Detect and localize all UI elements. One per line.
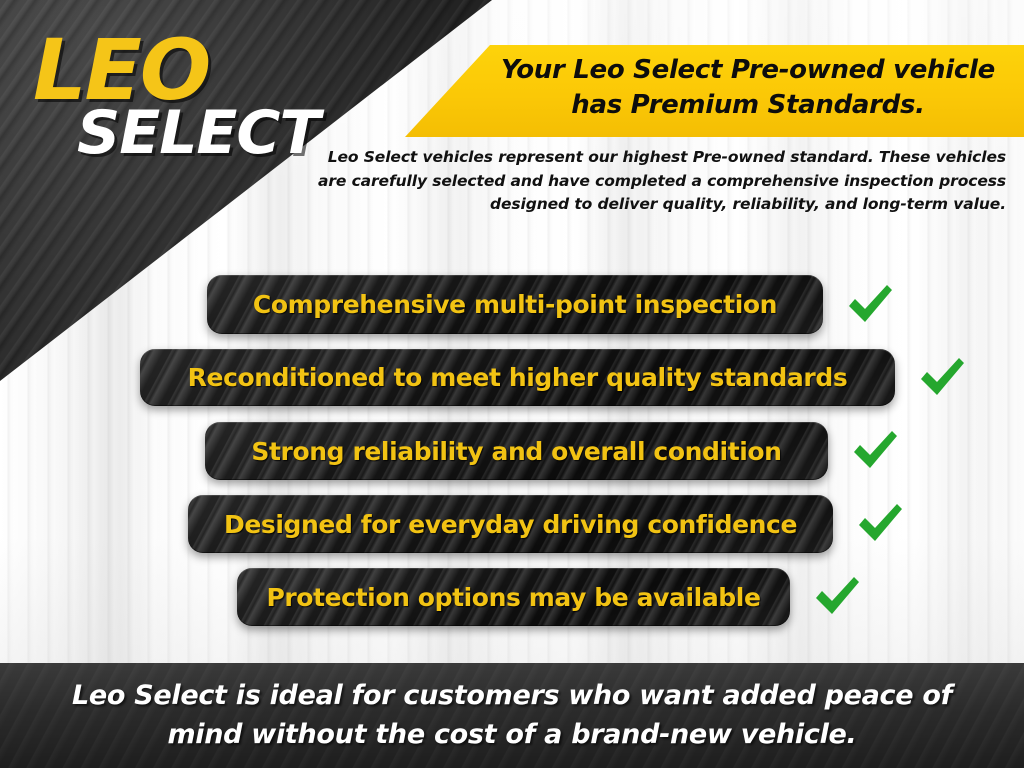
feature-pill: Designed for everyday driving confidence <box>188 495 833 553</box>
feature-pill: Comprehensive multi-point inspection <box>207 275 823 334</box>
footer-text: Leo Select is ideal for customers who wa… <box>62 677 962 754</box>
feature-label: Designed for everyday driving confidence <box>224 510 797 539</box>
feature-pill: Reconditioned to meet higher quality sta… <box>140 349 895 406</box>
feature-pill: Strong reliability and overall condition <box>205 422 828 480</box>
feature-label: Strong reliability and overall condition <box>251 437 781 466</box>
feature-row: Comprehensive multi-point inspection <box>207 275 897 334</box>
check-icon <box>812 574 862 620</box>
footer-bar: Leo Select is ideal for customers who wa… <box>0 663 1024 768</box>
feature-pill: Protection options may be available <box>237 568 790 626</box>
brand-logo: LEO SELECT <box>33 36 333 158</box>
logo-text-leo: LEO <box>33 36 333 105</box>
feature-row: Protection options may be available <box>237 568 862 626</box>
feature-label: Comprehensive multi-point inspection <box>253 290 777 319</box>
headline-text: Your Leo Select Pre-owned vehicle has Pr… <box>480 53 1024 122</box>
feature-label: Protection options may be available <box>266 583 760 612</box>
check-icon <box>855 501 905 547</box>
feature-label: Reconditioned to meet higher quality sta… <box>188 363 848 392</box>
check-icon <box>917 355 967 401</box>
check-icon <box>850 428 900 474</box>
logo-text-select: SELECT <box>77 109 333 158</box>
feature-row: Strong reliability and overall condition <box>205 422 901 480</box>
promo-poster: LEO SELECT Your Leo Select Pre-owned veh… <box>0 0 1024 768</box>
feature-row: Designed for everyday driving confidence <box>188 495 906 553</box>
feature-row: Reconditioned to meet higher quality sta… <box>140 349 968 406</box>
check-icon <box>845 282 895 328</box>
intro-paragraph: Leo Select vehicles represent our highes… <box>300 146 1006 217</box>
